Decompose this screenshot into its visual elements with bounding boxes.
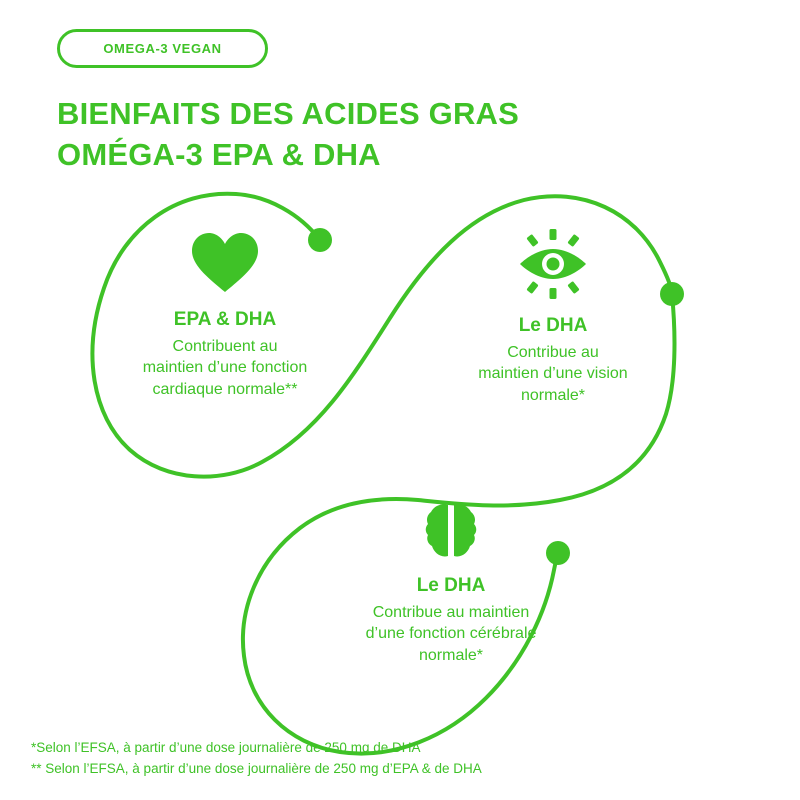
benefit-card-eye: Le DHA Contribue au maintien d’une visio… xyxy=(408,228,698,406)
heart-icon xyxy=(190,232,260,294)
card-body-eye: Contribue au maintien d’une vision norma… xyxy=(408,342,698,406)
card-body-heart: Contribuent au maintien d’une fonction c… xyxy=(80,336,370,400)
card-title-brain: Le DHA xyxy=(306,574,596,598)
footnote-single-asterisk: *Selon l’EFSA, à partir d’une dose journ… xyxy=(31,738,482,759)
footnotes: *Selon l’EFSA, à partir d’une dose journ… xyxy=(31,738,482,780)
card-title-heart: EPA & DHA xyxy=(80,308,370,332)
brain-icon xyxy=(425,502,477,560)
footnote-double-asterisk: ** Selon l’EFSA, à partir d’une dose jou… xyxy=(31,759,482,780)
infographic-canvas: OMEGA-3 VEGAN BIENFAITS DES ACIDES GRAS … xyxy=(0,0,800,800)
benefit-card-brain: Le DHA Contribue au maintien d’une fonct… xyxy=(306,502,596,666)
card-body-brain: Contribue au maintien d’une fonction cér… xyxy=(306,602,596,666)
benefit-card-heart: EPA & DHA Contribuent au maintien d’une … xyxy=(80,232,370,400)
eye-icon xyxy=(516,228,590,300)
card-title-eye: Le DHA xyxy=(408,314,698,338)
